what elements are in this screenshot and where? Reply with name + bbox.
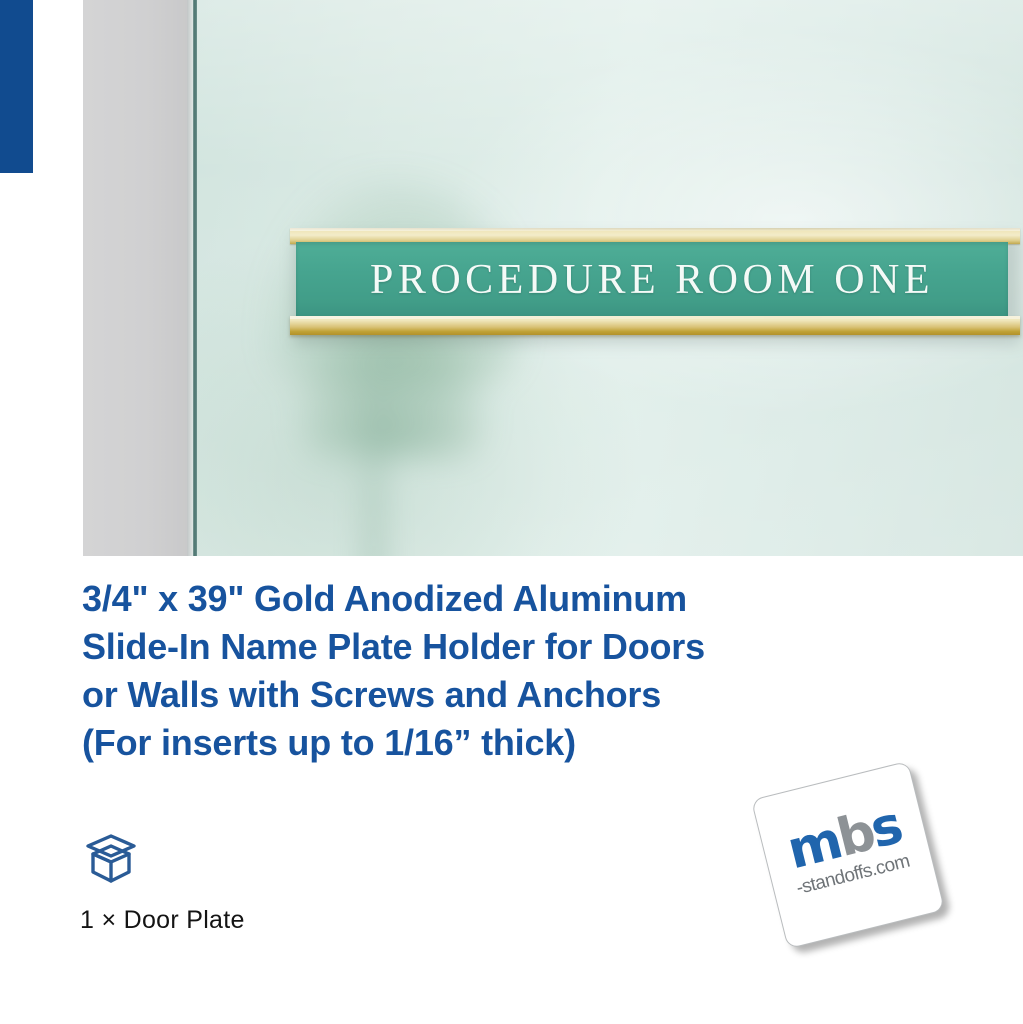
product-title-line-4: (For inserts up to 1/16” thick): [82, 719, 862, 767]
open-box-icon: [80, 830, 142, 886]
name-plate-holder: PROCEDURE ROOM ONE: [290, 228, 1020, 340]
accent-bar: [0, 0, 33, 173]
product-title-line-1: 3/4" x 39" Gold Anodized Aluminum: [82, 575, 862, 623]
name-plate-insert: PROCEDURE ROOM ONE: [296, 242, 1008, 319]
product-title-line-2: Slide-In Name Plate Holder for Doors: [82, 623, 862, 671]
logo-card: mbs -standoffs.com: [751, 761, 945, 950]
gold-rail-bottom: [290, 316, 1020, 335]
product-title: 3/4" x 39" Gold Anodized Aluminum Slide-…: [82, 575, 862, 767]
wall-surface: [83, 0, 187, 556]
name-plate-text: PROCEDURE ROOM ONE: [296, 256, 1008, 304]
product-photo: PROCEDURE ROOM ONE: [83, 0, 1023, 556]
brand-logo: mbs -standoffs.com: [753, 768, 943, 950]
logo-content: mbs -standoffs.com: [760, 795, 933, 906]
package-contents-line: 1 × Door Plate: [80, 906, 245, 935]
product-title-line-3: or Walls with Screws and Anchors: [82, 671, 862, 719]
